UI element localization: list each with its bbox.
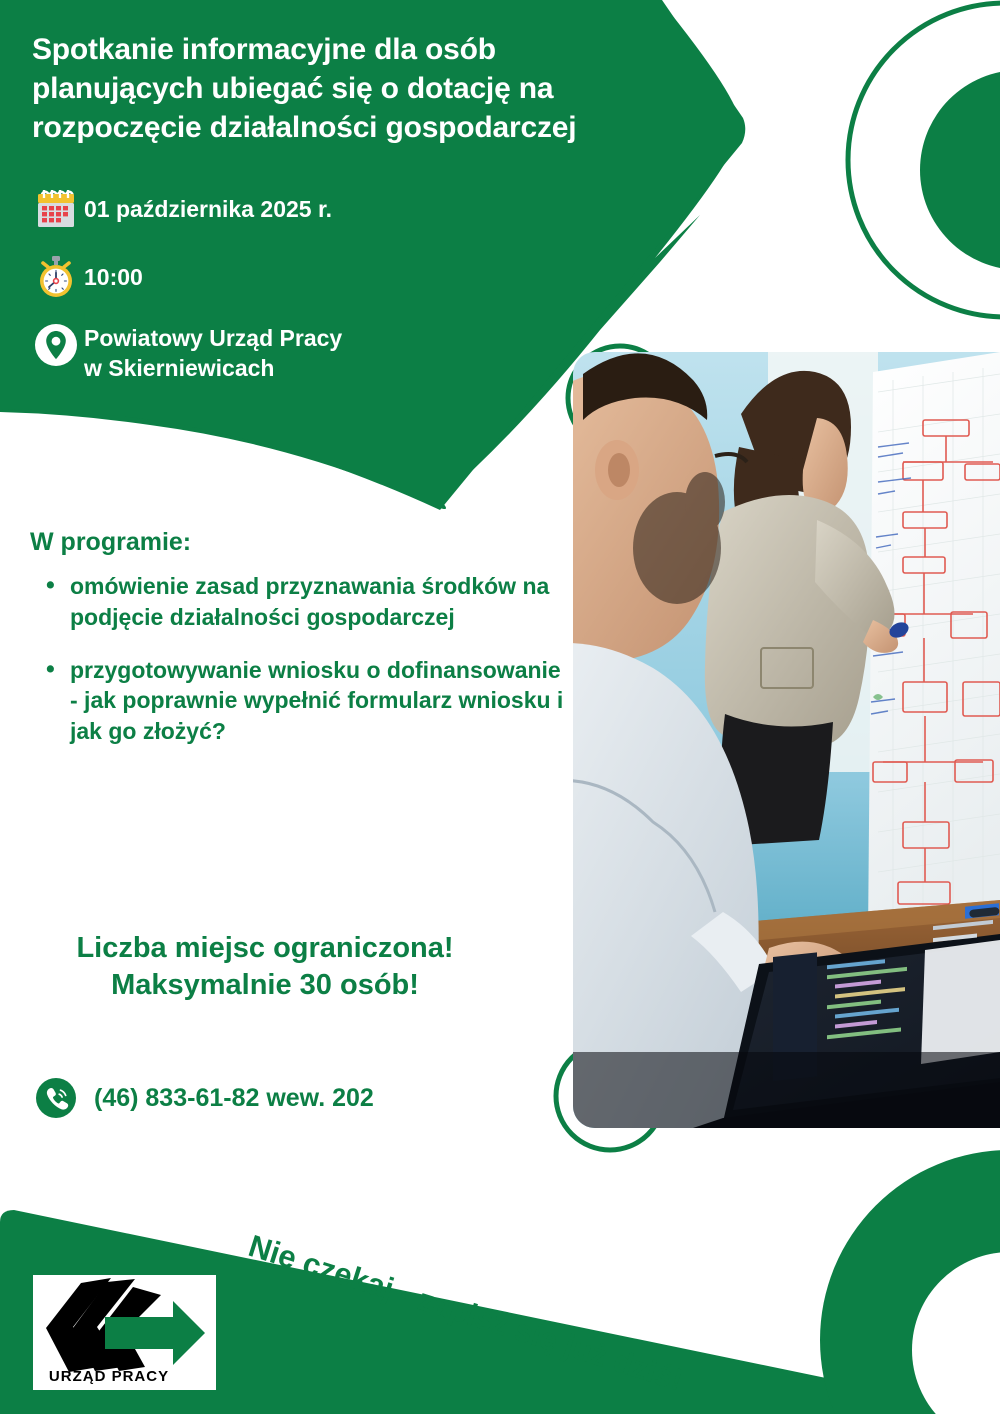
limited-seats-notice: Liczba miejsc ograniczona! Maksymalnie 3… (0, 930, 530, 1004)
urzad-pracy-logo: URZĄD PRACY (33, 1275, 216, 1390)
stopwatch-icon (28, 254, 84, 300)
solid-circle-top-right (920, 70, 1000, 270)
limited-seats-line-2: Maksymalnie 30 osób! (0, 967, 530, 1004)
title-line-1: Spotkanie informacyjne dla osób (32, 30, 672, 69)
logo-caption: URZĄD PRACY (49, 1368, 169, 1385)
ring-circle-top-right (848, 3, 1000, 317)
poster: Spotkanie informacyjne dla osób planując… (0, 0, 1000, 1414)
event-location-line-1: Powiatowy Urząd Pracy (84, 325, 342, 351)
event-date: 01 października 2025 r. (84, 186, 332, 225)
event-location: Powiatowy Urząd Pracy w Skierniewicach (84, 322, 342, 384)
event-details: 01 października 2025 r. (28, 186, 548, 406)
program-list: omówienie zasad przyznawania środków na … (30, 571, 570, 747)
contact-phone[interactable]: (46) 833-61-82 wew. 202 (28, 1077, 374, 1119)
phone-icon (28, 1077, 84, 1119)
event-location-line-2: w Skierniewicach (84, 355, 274, 381)
title-line-3: rozpoczęcie działalności gospodarczej (32, 108, 672, 147)
meeting-photo (573, 352, 1000, 1128)
page-title: Spotkanie informacyjne dla osób planując… (32, 30, 672, 147)
location-pin-icon (28, 322, 84, 368)
event-date-row: 01 października 2025 r. (28, 186, 548, 232)
event-time-row: 10:00 (28, 254, 548, 300)
calendar-icon (28, 186, 84, 232)
program-section: W programie: omówienie zasad przyznawani… (30, 528, 570, 769)
title-line-2: planujących ubiegać się o dotację na (32, 69, 672, 108)
phone-number[interactable]: (46) 833-61-82 wew. 202 (94, 1084, 374, 1113)
limited-seats-line-1: Liczba miejsc ograniczona! (0, 930, 530, 967)
program-heading: W programie: (30, 528, 570, 557)
program-item: przygotowywanie wniosku o dofinansowanie… (30, 655, 570, 747)
event-time: 10:00 (84, 254, 143, 293)
program-item: omówienie zasad przyznawania środków na … (30, 571, 570, 633)
event-location-row: Powiatowy Urząd Pracy w Skierniewicach (28, 322, 548, 384)
